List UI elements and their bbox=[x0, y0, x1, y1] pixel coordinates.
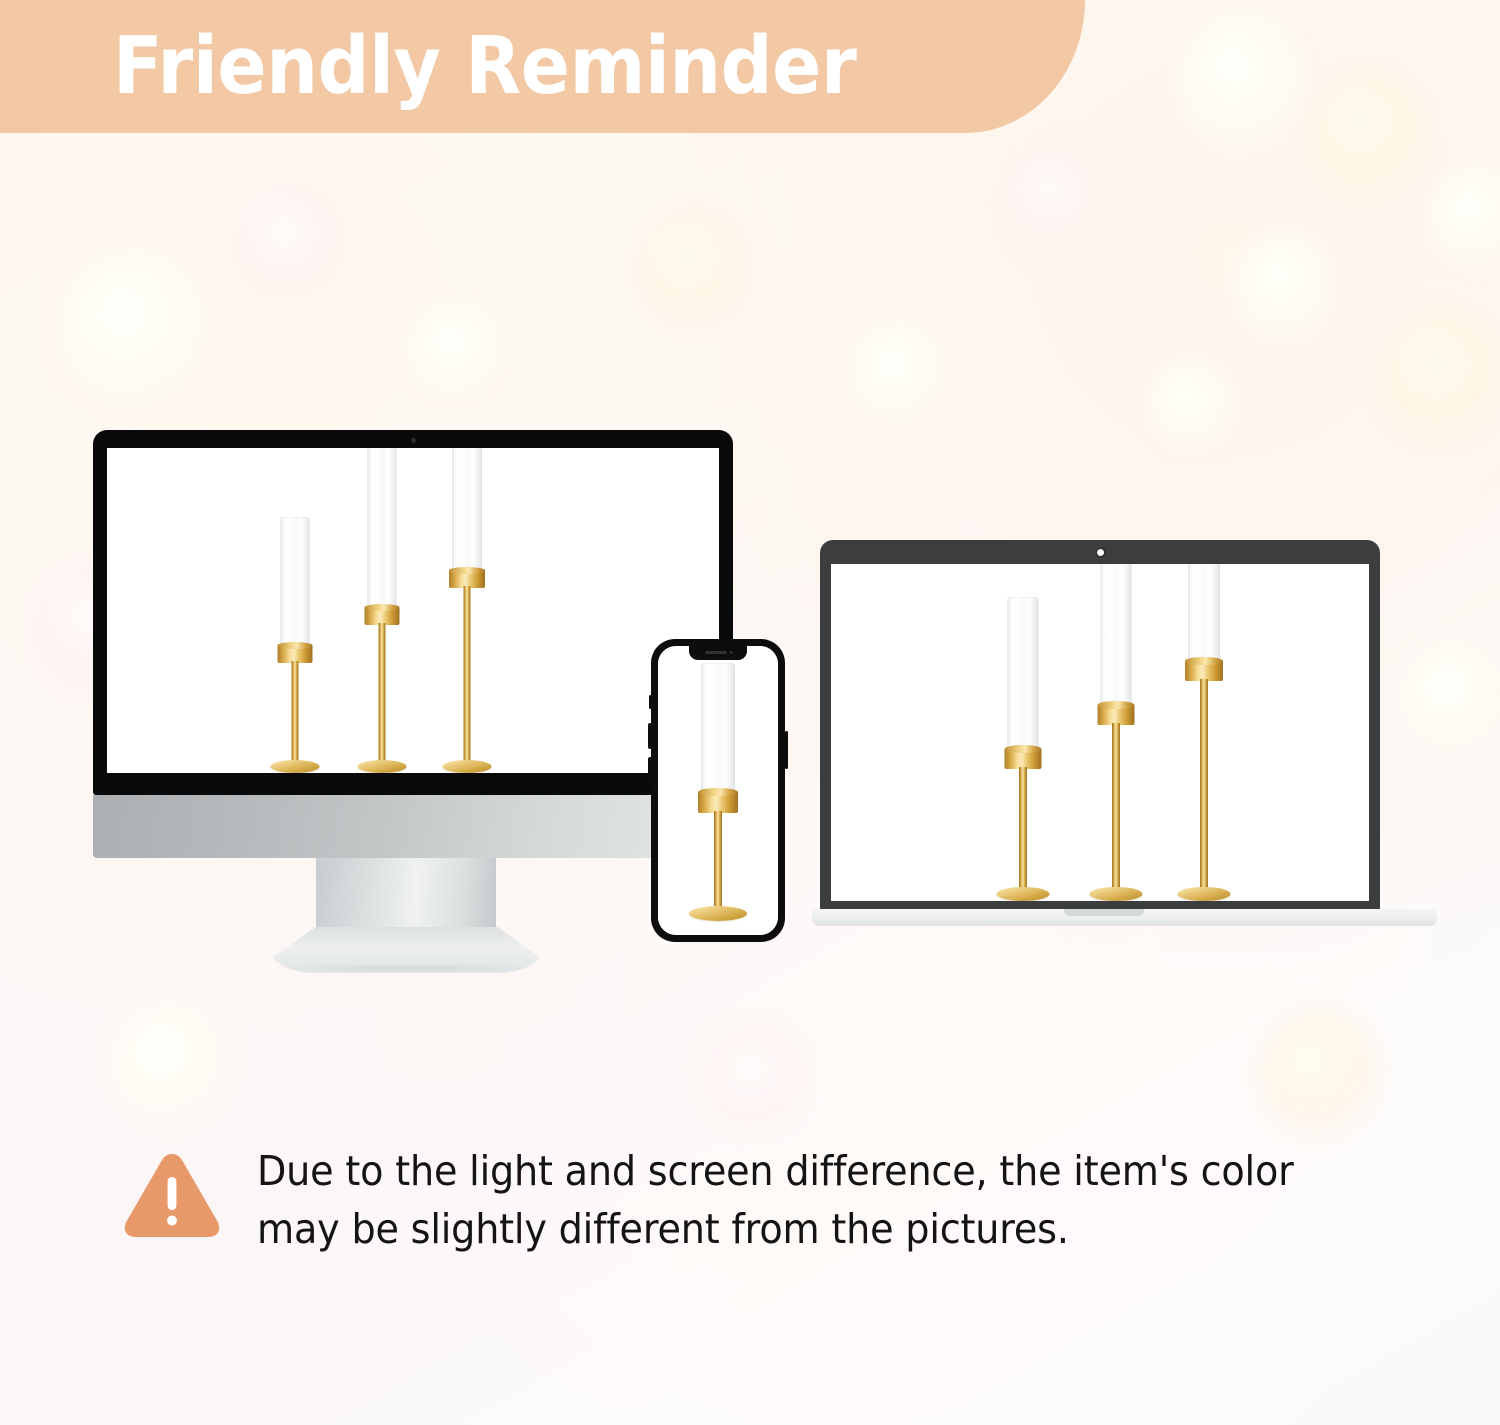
volume-down-button[interactable] bbox=[648, 757, 652, 783]
gold-stem bbox=[1112, 723, 1120, 892]
desktop-monitor bbox=[93, 430, 733, 950]
gold-collar-top bbox=[698, 788, 738, 796]
monitor-chin bbox=[93, 795, 733, 858]
glass-cylinder bbox=[452, 448, 482, 570]
product-image-laptop bbox=[831, 564, 1369, 901]
glass-cylinder bbox=[368, 448, 397, 607]
warning-triangle-icon bbox=[122, 1148, 222, 1240]
candlestick-small bbox=[255, 533, 335, 773]
candlestick-single bbox=[683, 646, 753, 921]
laptop bbox=[812, 540, 1437, 935]
glass-cylinder bbox=[1188, 564, 1220, 661]
laptop-lid bbox=[820, 540, 1380, 915]
header-banner: Friendly Reminder bbox=[0, 0, 1085, 133]
disclaimer-text: Due to the light and screen difference, … bbox=[257, 1142, 1354, 1258]
laptop-deck-notch bbox=[1064, 909, 1144, 916]
glass-cylinder bbox=[1008, 597, 1039, 749]
gold-base bbox=[443, 760, 492, 773]
monitor-stand-neck bbox=[316, 858, 496, 938]
phone-body bbox=[651, 639, 785, 942]
gold-collar-top bbox=[365, 604, 400, 611]
product-image-desktop bbox=[107, 448, 719, 773]
volume-up-button[interactable] bbox=[648, 723, 652, 749]
gold-base bbox=[997, 887, 1050, 901]
gold-base bbox=[1178, 887, 1231, 901]
gold-collar-top bbox=[1098, 701, 1135, 709]
gold-stem bbox=[464, 586, 471, 765]
gold-stem bbox=[292, 661, 299, 765]
power-button[interactable] bbox=[785, 731, 789, 769]
glass-cylinder bbox=[281, 517, 310, 645]
candlestick-large bbox=[422, 533, 512, 773]
candlestick-large bbox=[1159, 564, 1249, 901]
gold-base bbox=[358, 760, 407, 773]
gold-base bbox=[271, 760, 320, 773]
disclaimer-note: Due to the light and screen difference, … bbox=[0, 1130, 1500, 1280]
monitor-base-shadow bbox=[279, 963, 534, 973]
reminder-infographic: Friendly Reminder bbox=[0, 0, 1500, 1425]
candlestick-medium bbox=[1071, 564, 1161, 901]
gold-base bbox=[689, 906, 747, 921]
gold-collar-top bbox=[449, 567, 485, 574]
gold-stem bbox=[379, 623, 386, 765]
notch-speaker-icon bbox=[689, 646, 747, 660]
gold-base bbox=[1090, 887, 1143, 901]
mute-switch[interactable] bbox=[649, 695, 652, 709]
gold-collar-top bbox=[1185, 657, 1223, 665]
monitor-screen bbox=[107, 448, 719, 773]
smartphone bbox=[651, 639, 785, 942]
camera-dot-icon bbox=[730, 651, 733, 654]
gold-collar-top bbox=[278, 642, 313, 649]
page-title: Friendly Reminder bbox=[113, 13, 856, 120]
candlestick-small bbox=[983, 564, 1063, 901]
monitor-bezel bbox=[93, 430, 733, 795]
gold-stem bbox=[714, 811, 722, 911]
glass-cylinder bbox=[1101, 564, 1132, 705]
phone-screen bbox=[658, 646, 778, 935]
glass-cylinder bbox=[701, 663, 735, 793]
laptop-screen bbox=[831, 564, 1369, 901]
earpiece-speaker-icon bbox=[705, 651, 727, 654]
camera-dot-icon bbox=[1097, 549, 1104, 556]
product-image-phone bbox=[658, 646, 778, 935]
candlestick-medium bbox=[337, 533, 427, 773]
gold-collar-top bbox=[1005, 745, 1042, 753]
gold-stem bbox=[1200, 679, 1208, 892]
gold-stem bbox=[1019, 767, 1027, 892]
camera-dot-icon bbox=[411, 438, 416, 443]
